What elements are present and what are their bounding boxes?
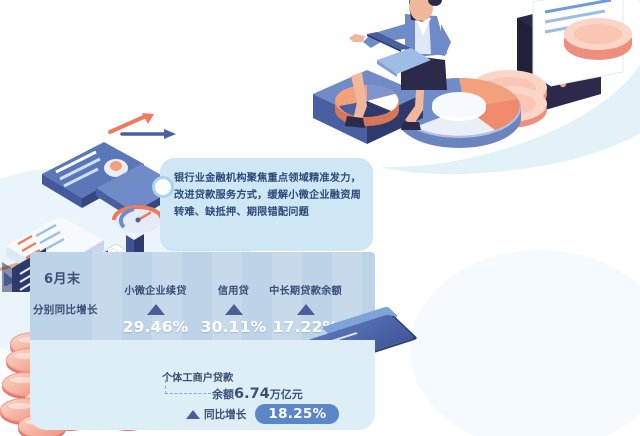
lower-label: 个体工商户贷款 [162,369,233,384]
growth-label: 同比增长 [204,407,246,422]
dashed-connector-vertical [165,380,167,394]
balance-text: 余额6.74万亿元 [212,386,303,402]
callout-line-3: 转难、缺抵押、期限错配问题 [174,204,364,221]
isometric-woman-donut-chart-icon [305,0,635,163]
background-swoosh-right [410,250,640,436]
up-triangle-icon [186,410,200,419]
balance-value: 6.74 [234,386,270,402]
up-triangle-icon [147,304,165,315]
balance-unit: 万亿元 [270,388,303,401]
callout-line-1: 银行业金融机构聚焦重点领域精准发力， [174,170,364,187]
callout-line-2: 改进贷款服务方式，缓解小微企业融资周 [174,187,364,204]
balance-prefix: 余额 [212,388,234,401]
dashed-connector-horizontal [165,393,211,395]
infographic-canvas: 银行业金融机构聚焦重点领域精准发力， 改进贷款服务方式，缓解小微企业融资周 转难… [0,0,640,436]
up-triangle-icon [297,304,315,315]
circle-bullet-icon [152,176,174,198]
callout-text: 银行业金融机构聚焦重点领域精准发力， 改进贷款服务方式，缓解小微企业融资周 转难… [174,170,364,221]
period-label: 6月末 [44,268,81,287]
up-triangle-icon [225,304,243,315]
stat-header: 中长期贷款余额 [253,282,358,297]
growth-row: 同比增长 18.25% [186,404,339,424]
growth-value-badge: 18.25% [255,404,339,424]
yoy-label: 分别同比增长 [33,302,98,317]
